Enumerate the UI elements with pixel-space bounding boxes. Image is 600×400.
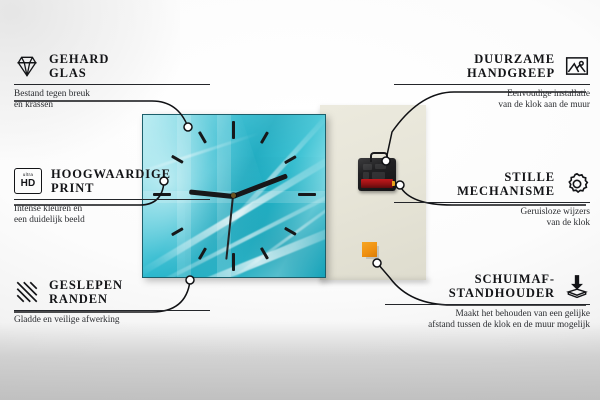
feature-description: Maakt het behouden van een gelijke afsta…	[385, 309, 590, 331]
feature-title: HOOGWAARDIGE PRINT	[51, 167, 171, 195]
clock-hands-cap	[231, 193, 236, 198]
feature-description: Eenvoudige installatie van de klok aan d…	[394, 89, 590, 111]
feature-description: Bestand tegen breuk en krassen	[14, 89, 210, 111]
gear-icon	[564, 171, 590, 197]
feature-divider	[385, 304, 590, 305]
clock-tick-3	[298, 193, 316, 196]
movement-vent	[363, 164, 372, 170]
feature-divider	[394, 202, 590, 203]
diamond-icon	[14, 53, 40, 79]
feature-divider	[14, 199, 210, 200]
feature-title: DUURZAME HANDGREEP	[467, 52, 555, 80]
movement-vent	[375, 164, 386, 169]
framed-picture-icon	[564, 53, 590, 79]
feature-title: GEHARD GLAS	[49, 52, 109, 80]
feature-divider	[14, 310, 210, 311]
quartz-clock-movement	[358, 158, 396, 191]
feature-divider	[394, 84, 590, 85]
feature-hoogwaardige-print: ultra HD HOOGWAARDIGE PRINT Intense kleu…	[14, 167, 210, 226]
movement-vent	[372, 172, 385, 179]
aa-battery	[361, 179, 393, 188]
feature-title: STILLE MECHANISME	[457, 170, 555, 198]
foam-spacer-pad	[362, 242, 377, 257]
feature-title: SCHUIMAF- STANDHOUDER	[449, 272, 555, 300]
arrow-down-to-pad-icon	[564, 273, 590, 299]
feature-divider	[14, 84, 210, 85]
feature-geslepen-randen: GESLEPEN RANDEN Gladde en veilige afwerk…	[14, 278, 210, 326]
movement-hanger	[370, 152, 388, 162]
feature-stille-mechanisme: STILLE MECHANISME Geruisloze wijzers van…	[394, 170, 590, 229]
ultra-hd-badge-icon: ultra HD	[14, 168, 42, 194]
background-bottom-gradient	[0, 322, 600, 400]
ultra-hd-badge-main-text: HD	[21, 179, 36, 189]
feature-description: Intense kleuren en een duidelijk beeld	[14, 204, 210, 226]
diagonal-lines-icon	[14, 279, 40, 305]
movement-vent	[363, 172, 369, 179]
feature-schuimafstandhouder: SCHUIMAF- STANDHOUDER Maakt het behouden…	[385, 272, 590, 331]
clock-tick-6	[232, 253, 235, 271]
feature-description: Geruisloze wijzers van de klok	[394, 207, 590, 229]
feature-duurzame-handgreep: DUURZAME HANDGREEP Eenvoudige installati…	[394, 52, 590, 111]
clock-tick-12	[232, 121, 235, 139]
feature-gehard-glas: GEHARD GLAS Bestand tegen breuk en krass…	[14, 52, 210, 111]
feature-description: Gladde en veilige afwerking	[14, 315, 210, 326]
feature-title: GESLEPEN RANDEN	[49, 278, 123, 306]
